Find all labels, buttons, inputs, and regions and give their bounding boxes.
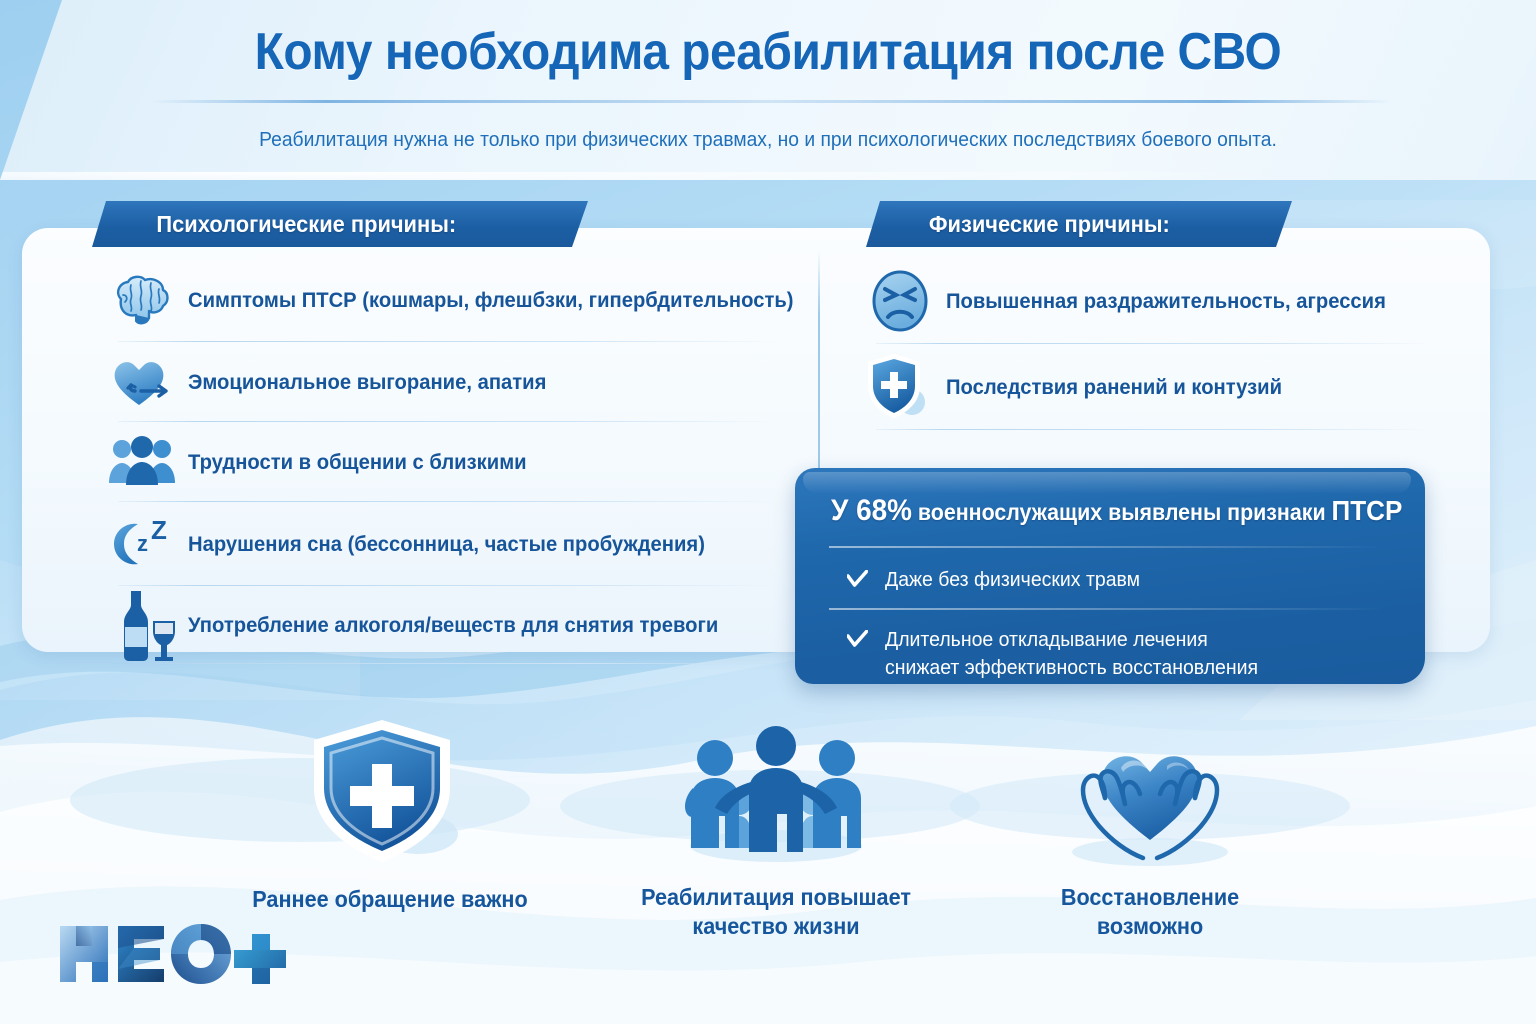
list-item-label: Эмоциональное выгорание, апатия — [188, 370, 546, 395]
heart-burnout-icon — [96, 353, 188, 411]
list-item: z Z Нарушения сна (бессонница, частые пр… — [96, 502, 786, 586]
list-item-label: Трудности в общении с близкими — [188, 450, 527, 475]
feature-caption: Реабилитация повышает качество жизни — [607, 883, 945, 941]
statistic-divider — [829, 546, 1385, 548]
list-item-label: Нарушения сна (бессонница, частые пробуж… — [188, 532, 705, 557]
physical-causes-list: Повышенная раздражительность, агрессия П… — [854, 258, 1436, 430]
check-icon — [847, 568, 868, 596]
bottle-glass-icon — [96, 587, 188, 663]
svg-text:z: z — [137, 531, 148, 556]
list-item-label: Употребление алкоголя/веществ для снятия… — [188, 613, 718, 638]
list-item: Эмоциональное выгорание, апатия — [96, 342, 786, 422]
feature-caption: Раннее обращение важно — [221, 885, 559, 914]
statistic-headline-mid: военнослужащих выявлены признаки — [912, 499, 1332, 525]
people-support-icon — [681, 716, 871, 866]
list-item: Трудности в общении с близкими — [96, 422, 786, 502]
infographic-root: Кому необходима реабилитация после СВО Р… — [0, 0, 1536, 1024]
statistic-bullet: Длительное откладывание лечения снижает … — [847, 626, 1258, 681]
list-item: Повышенная раздражительность, агрессия — [854, 258, 1436, 344]
moon-sleep-icon: z Z — [96, 515, 188, 573]
title-divider — [152, 100, 1392, 103]
feature-quality-of-life: Реабилитация повышает качество жизни — [596, 716, 956, 941]
shield-cross-icon — [854, 350, 946, 424]
feature-caption: Восстановление возможно — [981, 883, 1319, 941]
people-group-icon — [96, 435, 188, 489]
feature-recovery-possible: Восстановление возможно — [970, 716, 1330, 941]
list-item-label: Последствия ранений и контузий — [946, 375, 1282, 400]
statistic-card: У 68% военнослужащих выявлены признаки П… — [795, 468, 1425, 684]
statistic-bullet-text: Длительное откладывание лечения снижает … — [885, 626, 1258, 681]
psychological-causes-list: Симптомы ПТСР (кошмары, флешбзки, гиперб… — [96, 258, 786, 664]
svg-text:Z: Z — [151, 515, 167, 545]
physical-causes-banner-label: Физические причины: — [874, 211, 1170, 238]
list-item: Употребление алкоголя/веществ для снятия… — [96, 586, 786, 664]
hands-heart-icon — [1055, 716, 1245, 866]
page-subtitle: Реабилитация нужна не только при физичес… — [46, 128, 1490, 152]
statistic-headline-end: ПТСР — [1332, 495, 1403, 526]
shield-cross-large-icon — [310, 716, 470, 866]
physical-causes-banner: Физические причины: — [866, 201, 1292, 247]
row-separator — [876, 429, 1430, 431]
statistic-bullet-line: Длительное откладывание лечения — [885, 628, 1208, 651]
list-item: Последствия ранений и контузий — [854, 344, 1436, 430]
brain-icon — [96, 273, 188, 327]
feature-caption-line: Реабилитация повышает — [641, 884, 911, 910]
angry-face-icon — [854, 267, 946, 335]
psychological-causes-banner-label: Психологические причины: — [101, 211, 456, 238]
heo-plus-logo — [56, 918, 286, 992]
statistic-divider — [829, 608, 1385, 610]
statistic-bullet-line: снижает эффективность восстановления — [885, 656, 1258, 679]
statistic-bullet: Даже без физических травм — [847, 566, 1140, 596]
feature-early-help: Раннее обращение важно — [210, 716, 570, 914]
list-item-label: Повышенная раздражительность, агрессия — [946, 289, 1386, 314]
feature-caption-line: Раннее обращение важно — [252, 886, 527, 912]
feature-caption-line: возможно — [1097, 913, 1203, 939]
psychological-causes-banner: Психологические причины: — [92, 201, 588, 247]
page-title: Кому необходима реабилитация после СВО — [61, 22, 1474, 82]
list-item: Симптомы ПТСР (кошмары, флешбзки, гиперб… — [96, 258, 786, 342]
check-icon — [847, 628, 868, 656]
row-separator — [118, 663, 780, 665]
statistic-prefix: У — [831, 494, 856, 527]
feature-caption-line: Восстановление — [1061, 884, 1239, 910]
statistic-percent: 68% — [856, 494, 912, 527]
list-item-label: Симптомы ПТСР (кошмары, флешбзки, гиперб… — [188, 288, 794, 313]
statistic-bullet-text: Даже без физических травм — [885, 566, 1140, 594]
statistic-headline: У 68% военнослужащих выявлены признаки П… — [831, 494, 1361, 528]
feature-caption-line: качество жизни — [692, 913, 859, 939]
